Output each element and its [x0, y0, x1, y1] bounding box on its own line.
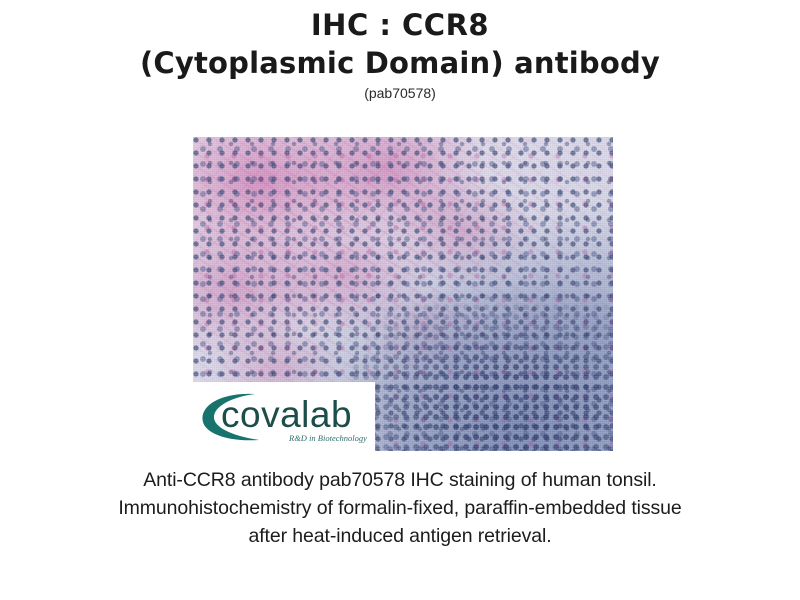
page-title-line-1: IHC : CCR8: [0, 6, 800, 44]
page-header: IHC : CCR8 (Cytoplasmic Domain) antibody…: [0, 0, 800, 102]
covalab-tagline: R&D in Biotechnology: [288, 433, 367, 443]
covalab-wordmark: covalab: [221, 394, 352, 435]
covalab-logo-icon: covalab R&D in Biotechnology: [193, 382, 375, 451]
ihc-micrograph: covalab R&D in Biotechnology: [193, 137, 613, 451]
figure-caption: Anti-CCR8 antibody pab70578 IHC staining…: [100, 466, 700, 550]
covalab-logo-plate: covalab R&D in Biotechnology: [193, 382, 375, 451]
catalog-number: (pab70578): [0, 84, 800, 102]
covalab-logo: covalab R&D in Biotechnology: [193, 382, 375, 451]
page-title-line-2: (Cytoplasmic Domain) antibody: [0, 44, 800, 82]
